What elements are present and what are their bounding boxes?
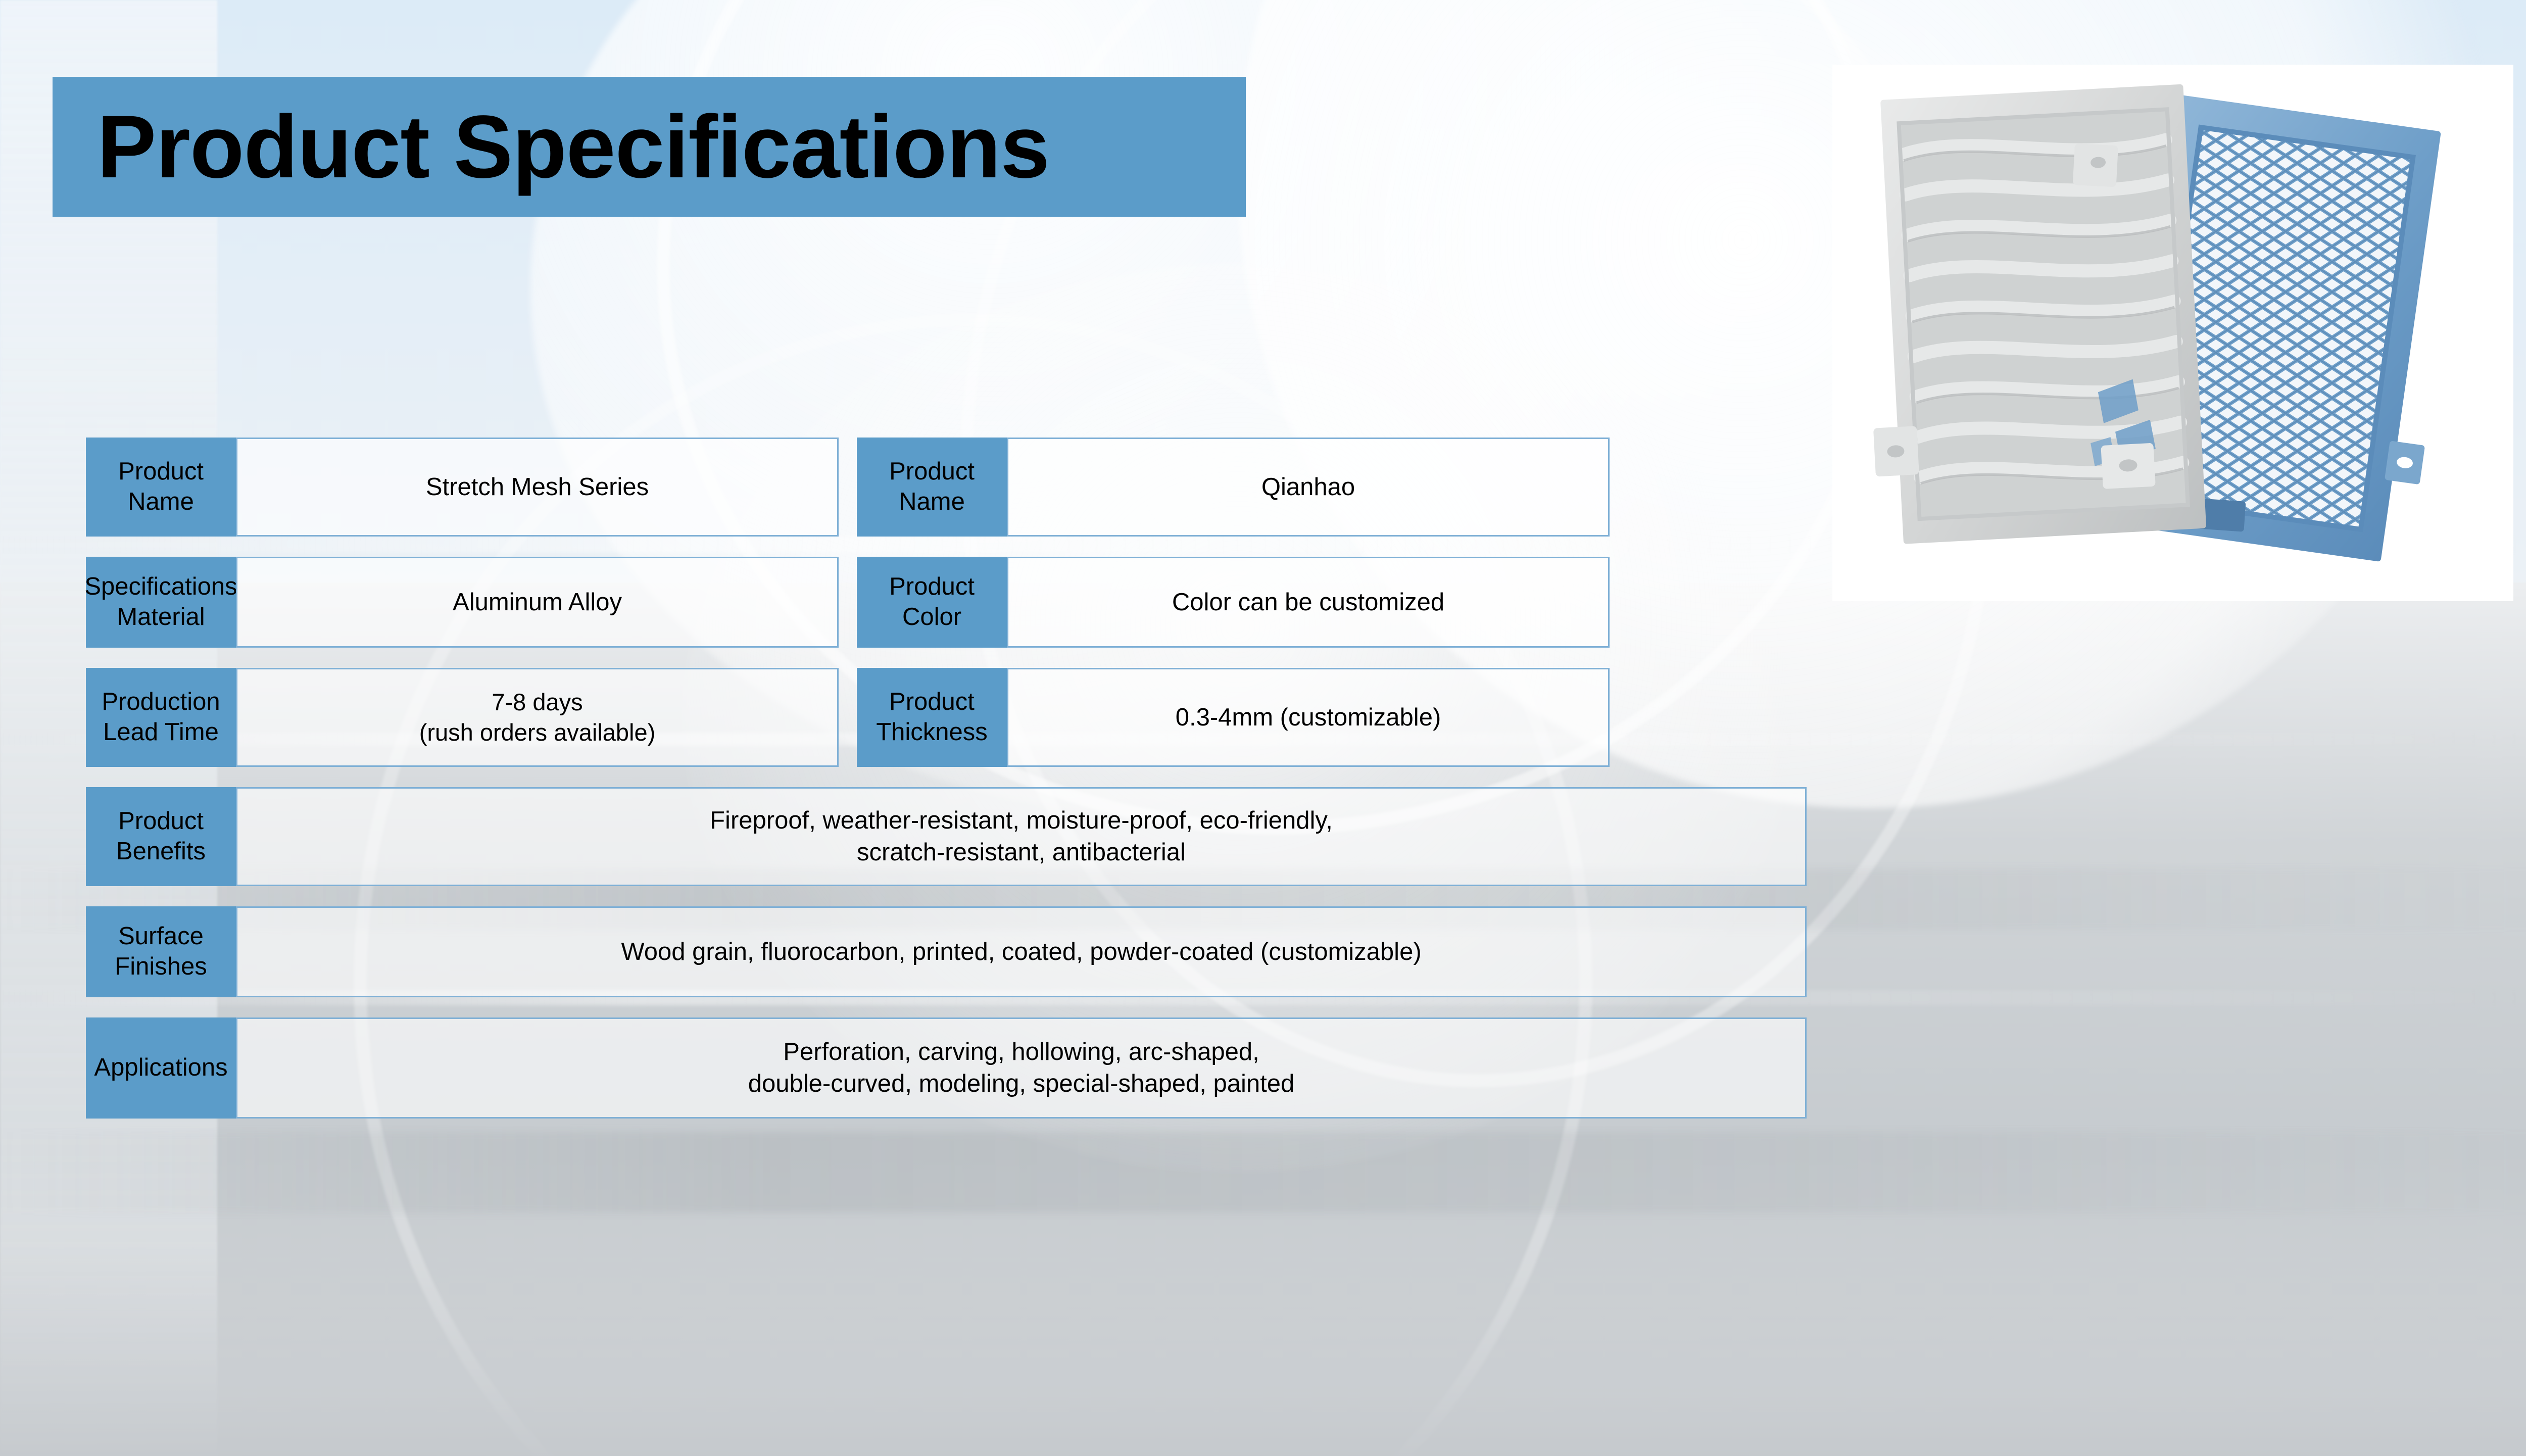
page-title: Product Specifications	[53, 103, 1049, 191]
spec-label: ProductName	[86, 438, 236, 537]
table-cell-group-right: Product Color Color can be customized	[857, 557, 1610, 648]
spec-value: Wood grain, fluorocarbon, printed, coate…	[236, 906, 1807, 997]
spec-label: Product Color	[857, 557, 1007, 648]
column-gap	[839, 557, 857, 648]
spec-label: Applications	[86, 1017, 236, 1119]
spec-label: SurfaceFinishes	[86, 906, 236, 997]
spec-value: Color can be customized	[1007, 557, 1610, 648]
spec-value: Aluminum Alloy	[236, 557, 839, 648]
product-photo-panel	[1832, 65, 2513, 601]
spec-label: SpecificationsMaterial	[86, 557, 236, 648]
table-cell-group-right: ProductThickness 0.3-4mm (customizable)	[857, 668, 1610, 767]
expanded-mesh-panels-image	[1832, 65, 2513, 601]
table-row: Applications Perforation, carving, hollo…	[86, 1017, 1807, 1119]
product-specifications-slide: Product Specifications	[0, 0, 2526, 1456]
spec-value: Stretch Mesh Series	[236, 438, 839, 537]
spec-value: 7-8 days(rush orders available)	[236, 668, 839, 767]
spec-value: Perforation, carving, hollowing, arc-sha…	[236, 1017, 1807, 1119]
column-gap	[839, 668, 857, 767]
table-row: ProductionLead Time 7-8 days(rush orders…	[86, 668, 1807, 767]
spec-label: ProductThickness	[857, 668, 1007, 767]
spec-value: Fireproof, weather-resistant, moisture-p…	[236, 787, 1807, 886]
table-cell-group-right: ProductName Qianhao	[857, 438, 1610, 537]
title-banner: Product Specifications	[53, 77, 1246, 217]
background-band-2	[0, 1132, 2526, 1212]
spec-value: Qianhao	[1007, 438, 1610, 537]
spec-label: ProductBenefits	[86, 787, 236, 886]
table-row: ProductBenefits Fireproof, weather-resis…	[86, 787, 1807, 886]
table-cell-group-left: ProductionLead Time 7-8 days(rush orders…	[86, 668, 839, 767]
background-bottom-wash	[0, 1244, 2526, 1456]
spec-value: 0.3-4mm (customizable)	[1007, 668, 1610, 767]
spec-label: ProductName	[857, 438, 1007, 537]
table-cell-group-left: ProductName Stretch Mesh Series	[86, 438, 839, 537]
table-row: SurfaceFinishes Wood grain, fluorocarbon…	[86, 906, 1807, 997]
table-row: ProductName Stretch Mesh Series ProductN…	[86, 438, 1807, 537]
specifications-table: ProductName Stretch Mesh Series ProductN…	[86, 438, 1807, 1139]
table-cell-group-left: SpecificationsMaterial Aluminum Alloy	[86, 557, 839, 648]
table-row: SpecificationsMaterial Aluminum Alloy Pr…	[86, 557, 1807, 648]
column-gap	[839, 438, 857, 537]
spec-label: ProductionLead Time	[86, 668, 236, 767]
